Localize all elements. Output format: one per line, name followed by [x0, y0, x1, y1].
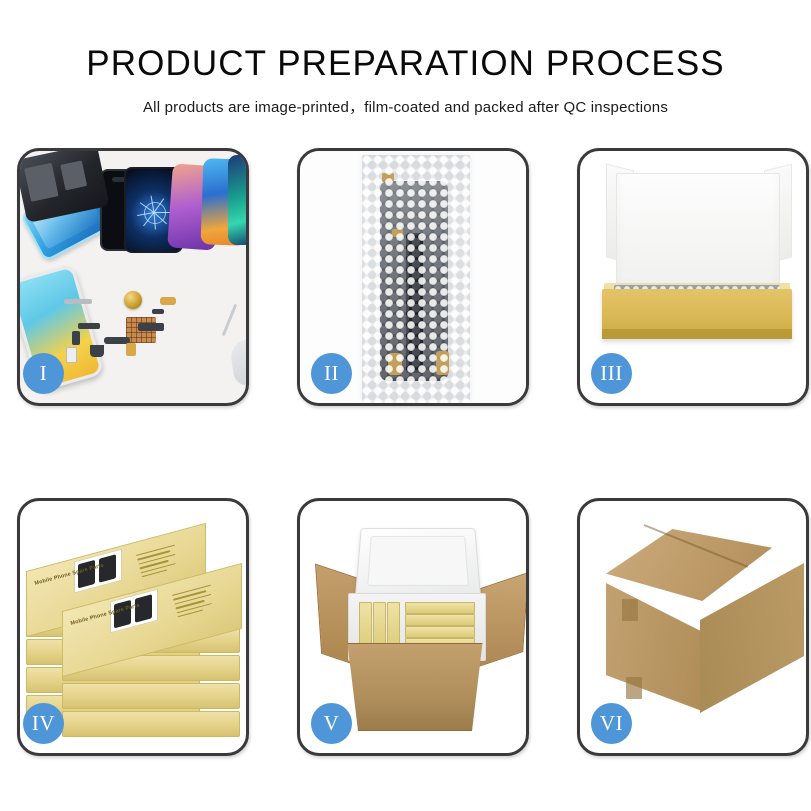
step-badge-5: V: [311, 703, 352, 744]
button-part: [90, 345, 104, 357]
carton-tape-lower: [626, 677, 642, 699]
step-panel-5[interactable]: V: [297, 498, 529, 756]
sim-tray-part: [66, 347, 77, 363]
crack-pattern: [136, 194, 172, 230]
step-panel-4[interactable]: Mobile Phone Spare Parts Mobile Phone Sp…: [17, 498, 249, 756]
phone-teal-gradient: [228, 155, 246, 245]
bubble-texture-shade: [362, 155, 470, 403]
step-badge-6: VI: [591, 703, 632, 744]
speaker-mesh-part: [64, 299, 92, 304]
hand-holding-phone: [229, 337, 246, 388]
connector-gold-part: [160, 297, 176, 305]
box-stack: Mobile Phone Spare Parts Mobile Phone Sp…: [26, 529, 246, 739]
stacked-box-right-1: [62, 711, 240, 737]
tweezers-tool: [222, 304, 238, 337]
stacked-box-right-2: [62, 683, 240, 709]
page-title: PRODUCT PREPARATION PROCESS: [0, 46, 811, 83]
inner-box-6: [405, 626, 475, 638]
carton-front-face: [606, 583, 702, 711]
step-panel-6[interactable]: VI: [577, 498, 809, 756]
step-badge-1: I: [23, 353, 64, 394]
step-badge-3: III: [591, 353, 632, 394]
box-lid-panel: [616, 173, 780, 293]
flex-connector-part: [152, 309, 164, 314]
step-panel-2[interactable]: II: [297, 148, 529, 406]
foam-lid: [355, 528, 481, 597]
page-subtitle: All products are image-printed，film-coat…: [0, 96, 811, 117]
carton-body: [340, 643, 490, 731]
box-tray-front-edge: [602, 329, 792, 339]
flex-cable-part-b: [72, 331, 80, 345]
gold-component: [124, 291, 142, 309]
process-step-grid: I II III: [17, 148, 794, 756]
step-panel-3[interactable]: III: [577, 148, 809, 406]
carton-tape-upper: [622, 599, 638, 621]
inner-box-4: [405, 602, 475, 614]
step-badge-4: IV: [23, 703, 64, 744]
battery-connector-part: [126, 343, 136, 356]
step-badge-2: II: [311, 353, 352, 394]
camera-flex-part: [138, 323, 164, 331]
inner-box-5: [405, 614, 475, 626]
flex-cable-part-a: [78, 323, 100, 329]
page-header: PRODUCT PREPARATION PROCESS All products…: [0, 0, 811, 117]
step-panel-1[interactable]: I: [17, 148, 249, 406]
bubble-wrap-pouch: [362, 155, 470, 403]
